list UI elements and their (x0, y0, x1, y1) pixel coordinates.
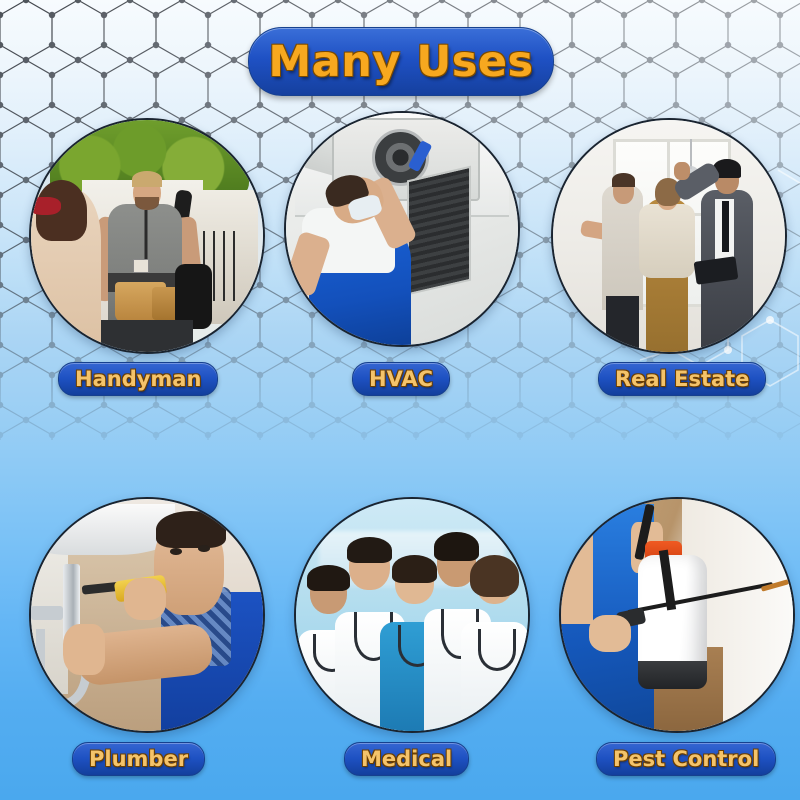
page-title-badge: Many Uses (248, 27, 554, 96)
use-photo-hvac (284, 111, 520, 347)
plumber-photo (31, 499, 263, 731)
promo-banner: Many Uses Handyman HVAC (0, 0, 800, 800)
use-label-pest-control[interactable]: Pest Control (596, 742, 776, 776)
use-label-text: HVAC (369, 367, 433, 391)
handyman-photo (31, 120, 263, 352)
use-photo-real-estate (551, 118, 787, 354)
use-label-plumber[interactable]: Plumber (72, 742, 205, 776)
medical-photo (296, 499, 528, 731)
use-label-medical[interactable]: Medical (344, 742, 469, 776)
use-label-text: Plumber (89, 747, 188, 771)
use-label-text: Real Estate (615, 367, 749, 391)
hvac-photo (286, 113, 518, 345)
use-photo-medical (294, 497, 530, 733)
use-label-handyman[interactable]: Handyman (58, 362, 218, 396)
use-photo-pest-control (559, 497, 795, 733)
page-title: Many Uses (268, 37, 533, 87)
use-photo-handyman (29, 118, 265, 354)
real-estate-photo (553, 120, 785, 352)
use-label-text: Handyman (75, 367, 201, 391)
pest-control-photo (561, 499, 793, 731)
use-label-text: Medical (361, 747, 452, 771)
use-photo-plumber (29, 497, 265, 733)
use-label-hvac[interactable]: HVAC (352, 362, 450, 396)
use-label-real-estate[interactable]: Real Estate (598, 362, 766, 396)
use-label-text: Pest Control (613, 747, 759, 771)
